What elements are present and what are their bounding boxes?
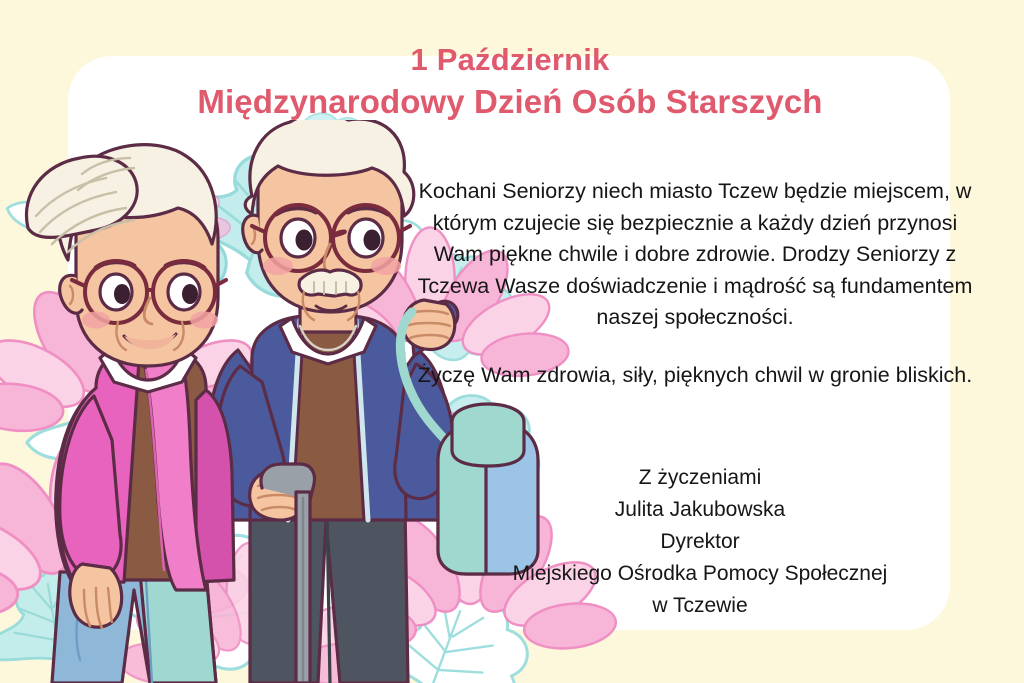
signature-organization: Miejskiego Ośrodka Pomocy Społecznej [420, 558, 980, 590]
signature-name: Julita Jakubowska [420, 494, 980, 526]
poster-root: 1 Październik Międzynarodowy Dzień Osób … [0, 0, 1024, 683]
message-paragraph-1: Kochani Seniorzy niech miasto Tczew będz… [410, 176, 980, 334]
message-body: Kochani Seniorzy niech miasto Tczew będz… [410, 176, 980, 392]
signature-city: w Tczewie [420, 590, 980, 622]
message-paragraph-2: Życzę Wam zdrowia, siły, pięknych chwil … [410, 360, 980, 392]
title-date: 1 Październik [90, 42, 930, 79]
signature-role: Dyrektor [420, 526, 980, 558]
text-layer: 1 Październik Międzynarodowy Dzień Osób … [0, 0, 1024, 683]
poster-title: 1 Październik Międzynarodowy Dzień Osób … [90, 42, 930, 122]
signature: Z życzeniami Julita Jakubowska Dyrektor … [420, 462, 980, 622]
signature-greeting: Z życzeniami [420, 462, 980, 494]
title-occasion: Międzynarodowy Dzień Osób Starszych [90, 83, 930, 122]
